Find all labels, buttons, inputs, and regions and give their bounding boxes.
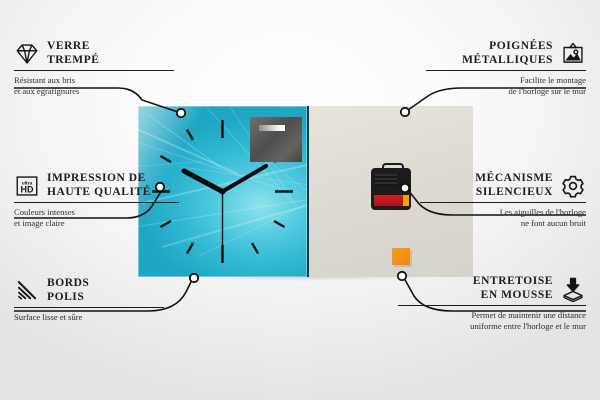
feature-desc-line1: Permet de maintenir une distance — [398, 310, 586, 321]
feature-rule — [426, 70, 586, 71]
feature-header: MÉCANISME SILENCIEUX — [420, 172, 586, 199]
feature-desc-line2: ne font aucun bruit — [420, 218, 586, 229]
gear-icon — [560, 173, 586, 199]
feature-title-line1: IMPRESSION DE — [47, 172, 151, 186]
feature-desc-line1: Surface lisse et sûre — [14, 312, 164, 323]
foam-spacer-icon — [560, 276, 586, 302]
feature-header: POIGNÉES MÉTALLIQUES — [426, 40, 586, 67]
feature-desc-line1: Facilite le montage — [426, 75, 586, 86]
feature-title-line2: POLIS — [47, 291, 89, 305]
feature-title-line2: EN MOUSSE — [473, 289, 553, 303]
feature-header: ENTRETOISE EN MOUSSE — [398, 275, 586, 302]
feature-rule — [398, 305, 586, 306]
feature-header: VERRE TREMPÉ — [14, 40, 174, 67]
feature-desc-line1: Couleurs intenses — [14, 207, 179, 218]
feature-title-line1: ENTRETOISE — [473, 275, 553, 289]
feature-entretoise-en-mousse: ENTRETOISE EN MOUSSE Permet de maintenir… — [398, 275, 586, 332]
feature-rule — [14, 307, 164, 308]
feature-title-line2: TREMPÉ — [47, 54, 100, 68]
feature-title-line2: HAUTE QUALITÉ — [47, 186, 151, 200]
ultra-hd-icon: ultra HD — [14, 173, 40, 199]
feature-verre-trempe: VERRE TREMPÉ Résistant aux bris et aux é… — [14, 40, 174, 97]
feature-mecanisme-silencieux: MÉCANISME SILENCIEUX Les aiguilles de l'… — [420, 172, 586, 229]
connector-dot-verre-trempe — [177, 109, 185, 117]
feature-desc-line2: et aux égratignures — [14, 86, 174, 97]
feature-title-line1: POIGNÉES — [462, 40, 553, 54]
feature-desc-line2: de l'horloge sur le mur — [426, 86, 586, 97]
feature-rule — [14, 70, 174, 71]
feature-title-line2: MÉTALLIQUES — [462, 54, 553, 68]
feature-desc-line1: Résistant aux bris — [14, 75, 174, 86]
connector-dot-bords-polis — [190, 274, 198, 282]
feature-impression-haute-qualite: ultra HD IMPRESSION DE HAUTE QUALITÉ Cou… — [14, 172, 179, 229]
feature-desc-line2: uniforme entre l'horloge et le mur — [398, 321, 586, 332]
connector-dot-mecanisme — [401, 184, 409, 192]
feature-title-line1: BORDS — [47, 277, 89, 291]
feature-rule — [14, 202, 179, 203]
feature-title-line1: VERRE — [47, 40, 100, 54]
diamond-icon — [14, 41, 40, 67]
feature-bords-polis: BORDS POLIS Surface lisse et sûre — [14, 277, 164, 323]
feature-rule — [420, 202, 586, 203]
ultra-hd-icon-big-text: HD — [21, 184, 34, 194]
feature-title-line2: SILENCIEUX — [475, 186, 553, 200]
infographic-canvas: VERRE TREMPÉ Résistant aux bris et aux é… — [0, 0, 600, 400]
feature-header: BORDS POLIS — [14, 277, 164, 304]
feature-header: ultra HD IMPRESSION DE HAUTE QUALITÉ — [14, 172, 179, 199]
connector-dot-poignees — [401, 108, 409, 116]
feature-poignees-metalliques: POIGNÉES MÉTALLIQUES Facilite le montage… — [426, 40, 586, 97]
feature-desc-line2: et image claire — [14, 218, 179, 229]
picture-frame-icon — [560, 41, 586, 67]
feature-title-line1: MÉCANISME — [475, 172, 553, 186]
polished-edge-icon — [14, 278, 40, 304]
feature-desc-line1: Les aiguilles de l'horloge — [420, 207, 586, 218]
